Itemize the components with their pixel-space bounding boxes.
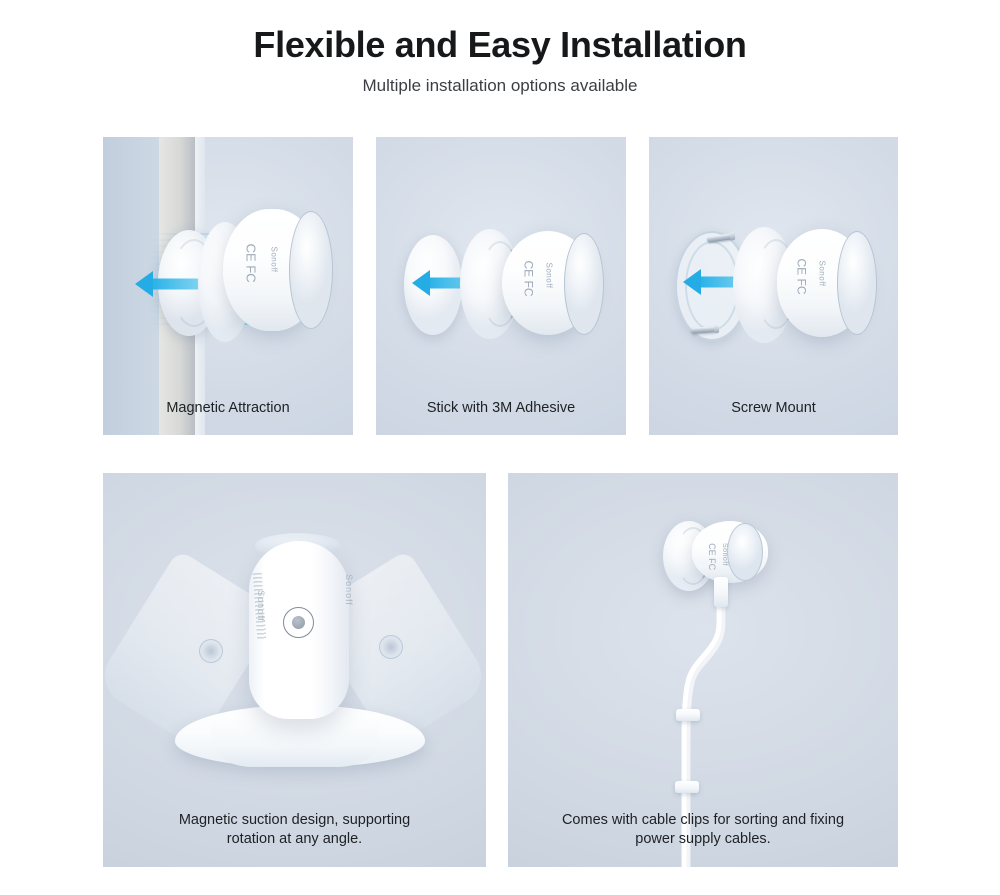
panel-caption-line-2: power supply cables. [508, 830, 898, 849]
installation-panel-grid: Sonoff CE FC Magnetic Attraction Sonoff … [0, 0, 1000, 895]
device-brand-label: Sonoff [544, 263, 553, 289]
panel-caption-line-2: rotation at any angle. [103, 830, 486, 849]
device-certification-marks: CE FC [242, 244, 258, 283]
screw-mount-illustration: Sonoff CE FC [649, 137, 898, 435]
device-brand-label: Sonoff [269, 247, 278, 273]
device-side-label-right: Sonoff [344, 574, 354, 606]
adhesive-mount-illustration: Sonoff CE FC [376, 137, 626, 435]
panel-screw-mount: Sonoff CE FC Screw Mount [649, 137, 898, 435]
ghost-mount-left-dot [199, 639, 223, 663]
device-side-label-left: Sonoff [256, 590, 266, 622]
device-sensor-dot [292, 616, 305, 629]
panel-caption: Screw Mount [649, 399, 898, 418]
panel-cable-clips: Sonoff CE FC Comes with cable clips for … [508, 473, 898, 867]
device-lens [837, 231, 877, 335]
panel-caption-line-1: Comes with cable clips for sorting and f… [508, 811, 898, 830]
panel-caption: Magnetic suction design, supporting rota… [103, 811, 486, 849]
cable-clip-lower [675, 781, 699, 793]
device-certification-marks: CE FC [794, 259, 809, 295]
panel-magnetic-attraction: Sonoff CE FC Magnetic Attraction [103, 137, 353, 435]
panel-adhesive-mount: Sonoff CE FC Stick with 3M Adhesive [376, 137, 626, 435]
panel-rotation-design: Sonoff Sonoff Magnetic suction design, s… [103, 473, 486, 867]
power-cable [508, 473, 898, 867]
cable-clip-upper [676, 709, 700, 721]
rotation-design-illustration: Sonoff Sonoff [103, 473, 486, 867]
magnetic-attraction-illustration: Sonoff CE FC [103, 137, 353, 435]
mount-base-front [211, 717, 379, 767]
panel-caption: Stick with 3M Adhesive [376, 399, 626, 418]
device-lens [564, 233, 604, 335]
cable-connector [714, 577, 728, 607]
device-brand-label: Sonoff [817, 261, 826, 287]
panel-caption-line-1: Magnetic suction design, supporting [103, 811, 486, 830]
panel-caption: Magnetic Attraction [103, 399, 353, 418]
device-certification-marks: CE FC [521, 261, 536, 297]
ghost-mount-right-dot [379, 635, 403, 659]
cable-clips-illustration: Sonoff CE FC [508, 473, 898, 867]
panel-caption: Comes with cable clips for sorting and f… [508, 811, 898, 849]
device-lens [289, 211, 333, 329]
